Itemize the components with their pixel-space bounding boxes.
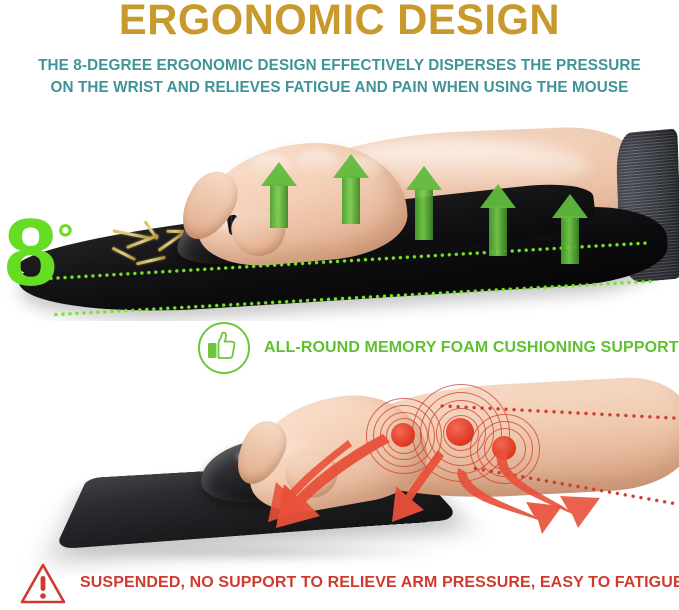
subtitle-line-2: ON THE WRIST AND RELIEVES FATIGUE AND PA…: [5, 77, 674, 99]
subtitle-line-1: THE 8-DEGREE ERGONOMIC DESIGN EFFECTIVEL…: [5, 55, 674, 77]
knuckle-highlight: [296, 150, 338, 176]
warning-triangle-icon: [18, 560, 68, 606]
ergonomic-design-infographic: ERGONOMIC DESIGN THE 8-DEGREE ERGONOMIC …: [0, 0, 679, 610]
angle-unit: °: [57, 217, 71, 261]
pressure-arrow-group: [0, 376, 679, 576]
support-arrow-1: [261, 162, 297, 228]
support-arrow-4: [480, 184, 516, 256]
caption-good-text: ALL-ROUND MEMORY FOAM CUSHIONING SUPPORT: [264, 339, 679, 357]
flat-mousepad-scene: [0, 376, 679, 576]
angle-badge: 8°: [4, 216, 71, 291]
support-arrow-5: [552, 194, 588, 264]
ergonomic-wrist-rest-scene: [0, 126, 679, 321]
caption-bad-text: SUSPENDED, NO SUPPORT TO RELIEVE ARM PRE…: [80, 574, 679, 592]
support-arrow-2: [333, 154, 369, 224]
page-subtitle: THE 8-DEGREE ERGONOMIC DESIGN EFFECTIVEL…: [0, 55, 679, 100]
caption-good: ALL-ROUND MEMORY FOAM CUSHIONING SUPPORT: [198, 322, 679, 374]
thumbs-up-icon: [198, 322, 250, 374]
support-arrow-3: [406, 166, 442, 240]
page-title: ERGONOMIC DESIGN: [10, 0, 669, 43]
caption-bad: SUSPENDED, NO SUPPORT TO RELIEVE ARM PRE…: [18, 560, 679, 606]
angle-value: 8: [4, 199, 55, 306]
